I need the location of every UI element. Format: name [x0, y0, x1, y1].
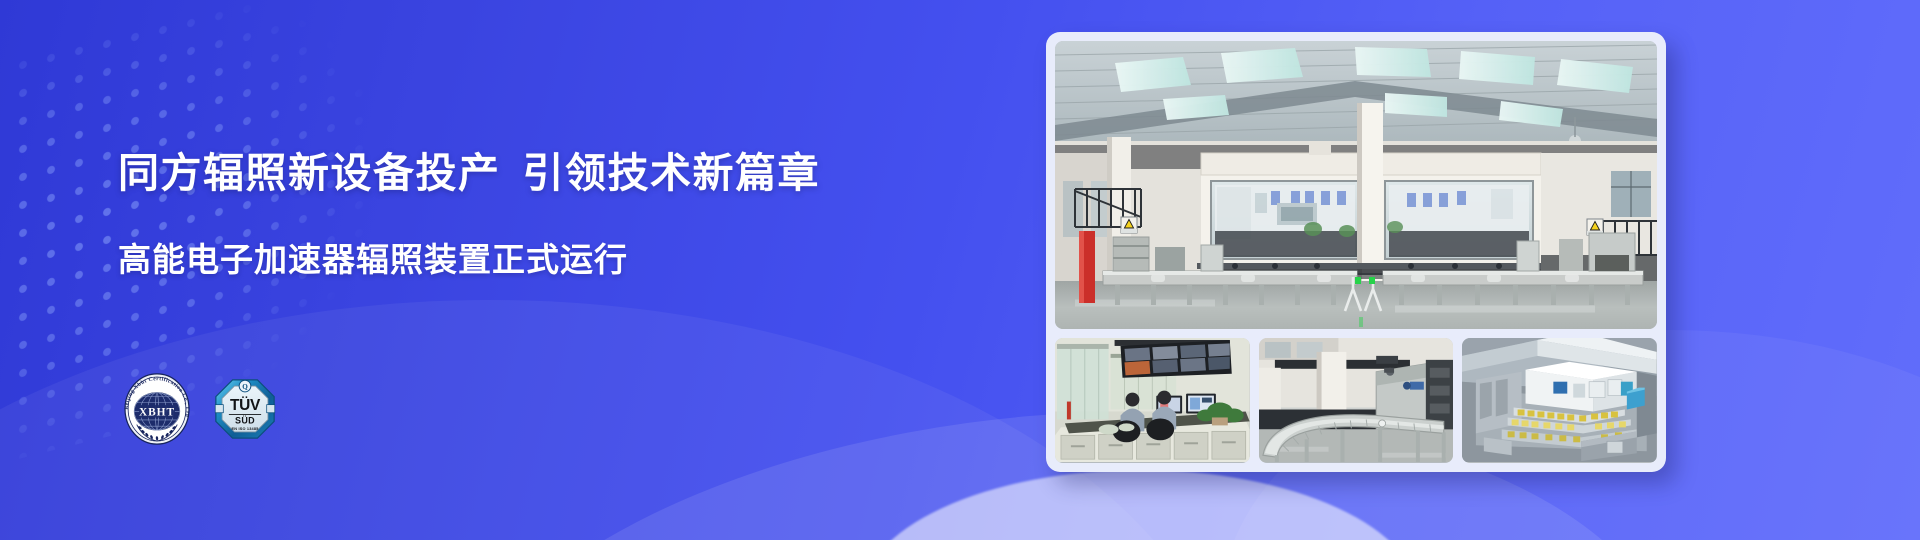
photo-gallery-panel: 高能电子加速器辐照装置厂房主控区 — [1046, 32, 1666, 472]
headline-part2: 引领技术新篇章 — [523, 150, 821, 196]
svg-text:XBHT: XBHT — [139, 406, 175, 418]
gallery-thumb-control-room[interactable]: 中央控制室操作员监控屏幕 — [1055, 338, 1250, 463]
svg-text:TÜV: TÜV — [230, 397, 261, 414]
gallery-thumb-conveyor-line[interactable]: 不锈钢辐照传送线 — [1259, 338, 1454, 463]
page-title: 同方辐照新设备投产引领技术新篇章 — [118, 150, 898, 197]
hero-banner: 同方辐照新设备投产引领技术新篇章 高能电子加速器辐照装置正式运行 Beijing… — [0, 0, 1920, 540]
svg-text:SÜD: SÜD — [235, 415, 255, 425]
gallery-thumbnail-row: 中央控制室操作员监控屏幕 — [1055, 338, 1657, 463]
xbht-certification-logo: Beijing Xbht Certification Co., Ltd XBHT — [118, 370, 196, 448]
page-subtitle: 高能电子加速器辐照装置正式运行 — [118, 241, 898, 279]
gallery-main-image[interactable]: 高能电子加速器辐照装置厂房主控区 — [1055, 41, 1657, 329]
certification-logo-group: Beijing Xbht Certification Co., Ltd XBHT — [118, 370, 276, 448]
gallery-thumb-facility-3d-layout[interactable]: 辐照装置三维布局效果图 — [1462, 338, 1657, 463]
wave-shape-c — [860, 470, 1420, 540]
headline-part1: 同方辐照新设备投产 — [118, 150, 501, 196]
svg-text:Q: Q — [242, 383, 248, 391]
svg-text:EN ISO 13485: EN ISO 13485 — [232, 427, 260, 431]
banner-text-block: 同方辐照新设备投产引领技术新篇章 高能电子加速器辐照装置正式运行 — [118, 150, 898, 279]
tuv-sud-logo: Q TÜV SÜD EN ISO 13485 TÜV SÜD EN ISO 13… — [214, 378, 276, 440]
